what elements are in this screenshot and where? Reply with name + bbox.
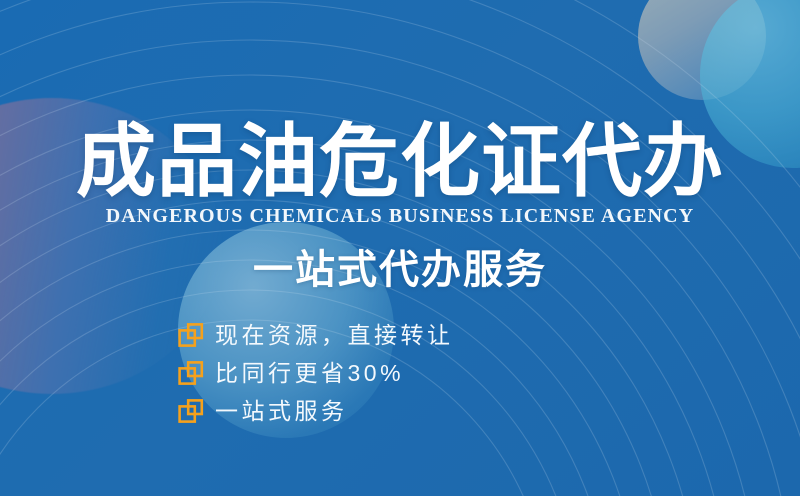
banner-subtitle-english: DANGEROUS CHEMICALS BUSINESS LICENSE AGE… <box>0 205 800 228</box>
feature-label: 一站式服务 <box>215 398 348 424</box>
list-item: 一站式服务 <box>178 392 454 430</box>
double-square-icon <box>178 398 204 424</box>
list-item: 现在资源，直接转让 <box>178 316 454 354</box>
promotional-banner: 成品油危化证代办 DANGEROUS CHEMICALS BUSINESS LI… <box>0 0 800 496</box>
feature-label: 现在资源，直接转让 <box>215 322 454 348</box>
double-square-icon <box>178 360 204 386</box>
banner-subtitle-chinese: 一站式代办服务 <box>0 246 800 294</box>
feature-label: 比同行更省30% <box>215 360 404 386</box>
list-item: 比同行更省30% <box>178 354 454 392</box>
double-square-icon <box>178 322 204 348</box>
banner-title: 成品油危化证代办 <box>0 116 800 208</box>
feature-list: 现在资源，直接转让 比同行更省30% 一站式服务 <box>178 316 454 430</box>
